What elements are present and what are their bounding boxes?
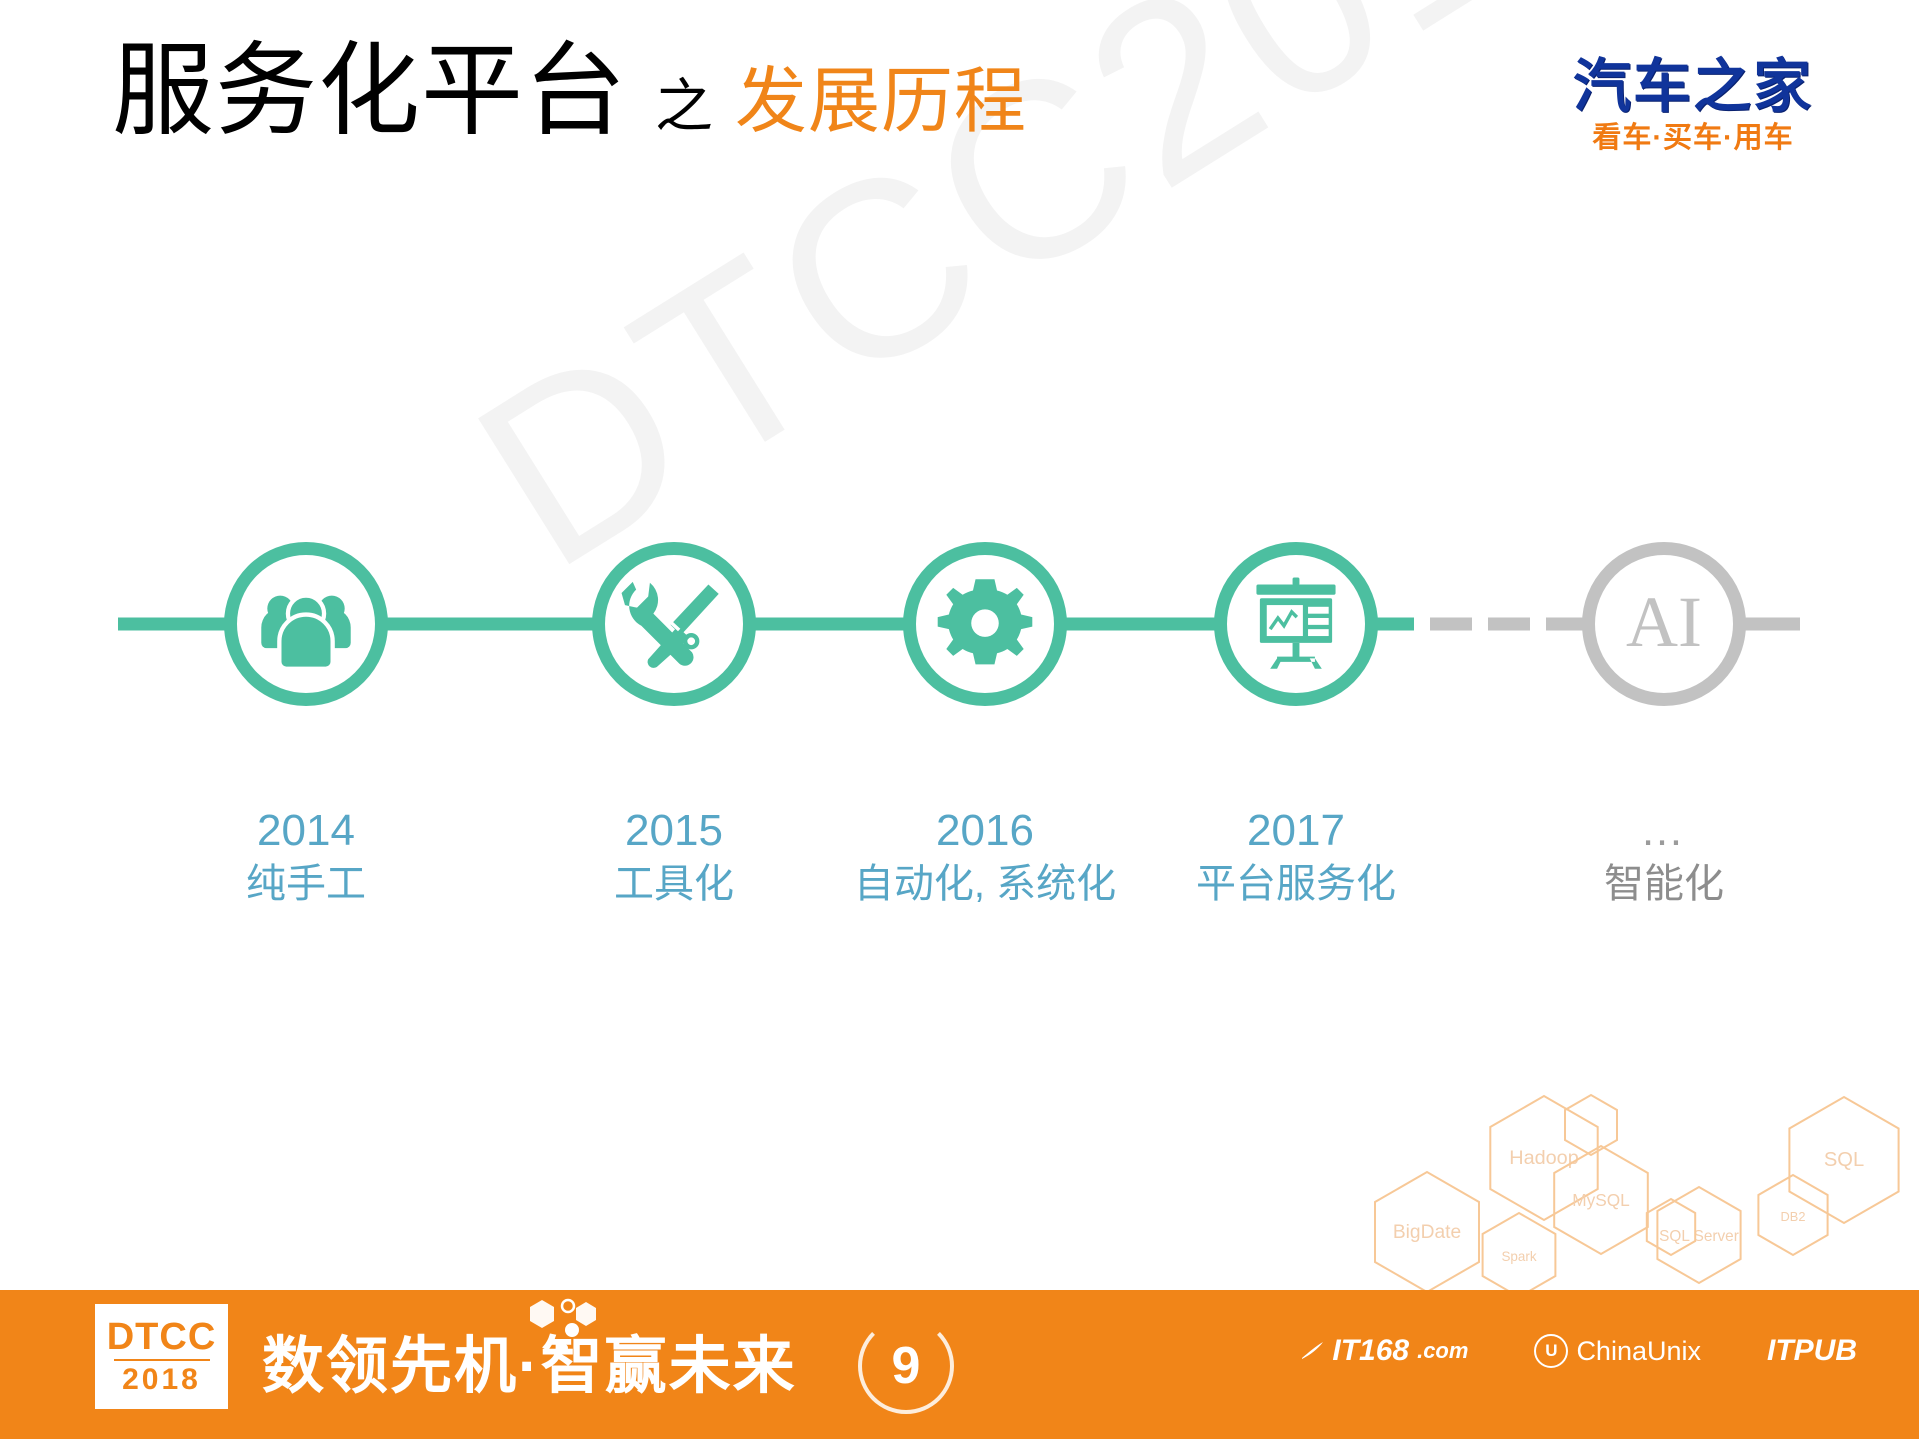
autohome-logo-name: 汽车之家 xyxy=(1548,58,1838,116)
title-accent-text: 发展历程 xyxy=(735,42,1027,147)
hexagon-label: SQL xyxy=(1824,1149,1864,1171)
ai-text-icon: AI xyxy=(1626,582,1702,662)
partner-it168: IT168 .com xyxy=(1300,1334,1468,1368)
timeline-node-ring-n2016[interactable] xyxy=(910,549,1061,700)
hexagon-label: DB2 xyxy=(1781,1209,1806,1224)
timeline-year-nai: … xyxy=(1434,805,1894,857)
partner-it168-suffix: .com xyxy=(1417,1338,1468,1364)
presentation-icon xyxy=(1256,578,1335,669)
users-icon xyxy=(261,596,350,669)
hexagon-outline xyxy=(1657,1187,1740,1283)
tools-icon xyxy=(622,582,719,668)
timeline-line-segment xyxy=(118,618,230,631)
timeline-node-fill xyxy=(1221,549,1372,700)
dtcc-logo-year: 2018 xyxy=(122,1365,201,1395)
hexagon-outline xyxy=(1789,1097,1898,1223)
partner-chinaunix: U ChinaUnix xyxy=(1534,1334,1701,1368)
hexagon-outline xyxy=(1758,1175,1827,1255)
timeline-line-segment xyxy=(1740,618,1800,631)
timeline-node-ring-n2014[interactable] xyxy=(231,549,382,700)
autohome-logo: 汽车之家 看车·买车·用车 xyxy=(1548,58,1838,153)
timeline-node-ring-n2017[interactable] xyxy=(1221,549,1372,700)
banner-slogan: 数领先机·智赢未来 xyxy=(262,1315,797,1405)
hexagon-outline xyxy=(1375,1172,1479,1290)
timeline-dash-segment xyxy=(1488,618,1530,631)
hexagon-decoration: HadoopMySQLBigDateSparkSQLDB2SQL Server xyxy=(999,1070,1919,1290)
partner-itpub: ITPUB xyxy=(1767,1334,1857,1368)
banner-edition-badge: 9 xyxy=(858,1318,954,1414)
timeline-dash-segment xyxy=(1430,618,1472,631)
timeline-node-fill xyxy=(910,549,1061,700)
timeline-label-nai: …智能化 xyxy=(1434,805,1894,908)
timeline-line-segment xyxy=(382,618,598,631)
hexagon-outline xyxy=(1647,1199,1695,1255)
timeline-dash-segment xyxy=(1546,618,1588,631)
gear-icon xyxy=(938,579,1033,664)
timeline-node-fill xyxy=(599,549,750,700)
timeline-node-ring-nai[interactable] xyxy=(1589,549,1740,700)
hexagon-label: Spark xyxy=(1501,1249,1536,1264)
it168-swoosh-icon xyxy=(1300,1341,1324,1361)
timeline-node-fill xyxy=(231,549,382,700)
timeline-dash-segment xyxy=(1372,618,1414,631)
hexagon-outline xyxy=(1483,1213,1556,1290)
timeline-line-segment xyxy=(750,618,909,631)
autohome-logo-tagline: 看车·买车·用车 xyxy=(1548,124,1838,153)
slide-root: DTCC2018 服务化平台 之 发展历程 汽车之家 看车·买车·用车 xyxy=(0,0,1919,1439)
timeline-graphic: AI xyxy=(0,0,1919,1439)
hexagon-label: BigDate xyxy=(1393,1222,1461,1243)
dtcc-logo: DTCC 2018 xyxy=(95,1304,228,1409)
dtcc-logo-rule xyxy=(114,1359,210,1361)
timeline-node-fill xyxy=(1589,549,1740,700)
conference-banner: DTCC 2018 数领先机·智赢未来 9 IT168 .com U Chin xyxy=(0,1290,1919,1439)
dtcc-logo-top: DTCC xyxy=(107,1318,217,1356)
timeline-node-ring-n2015[interactable] xyxy=(599,549,750,700)
title-main-text: 服务化平台 xyxy=(112,40,627,142)
partner-itpub-label: ITPUB xyxy=(1767,1334,1857,1368)
hexagon-outline xyxy=(1490,1096,1597,1220)
title-connector-text: 之 xyxy=(655,59,713,143)
hexagon-outline xyxy=(1565,1095,1617,1155)
partner-it168-label: IT168 xyxy=(1332,1334,1409,1368)
hexagon-outline xyxy=(1554,1146,1648,1254)
timeline-nodes: AI xyxy=(231,549,1740,700)
timeline-connectors xyxy=(118,618,1800,631)
hexagon-label: SQL Server xyxy=(1659,1228,1739,1245)
page-title: 服务化平台 之 发展历程 xyxy=(112,40,1027,147)
hexagon-label: MySQL xyxy=(1572,1190,1630,1210)
partner-chinaunix-label: ChinaUnix xyxy=(1576,1336,1701,1367)
hexagon-label: Hadoop xyxy=(1509,1147,1578,1169)
chinaunix-mark-icon: U xyxy=(1534,1334,1568,1368)
timeline-desc-nai: 智能化 xyxy=(1434,861,1894,908)
timeline-line-segment xyxy=(1061,618,1220,631)
partner-logos: IT168 .com U ChinaUnix ITPUB xyxy=(1300,1334,1857,1368)
